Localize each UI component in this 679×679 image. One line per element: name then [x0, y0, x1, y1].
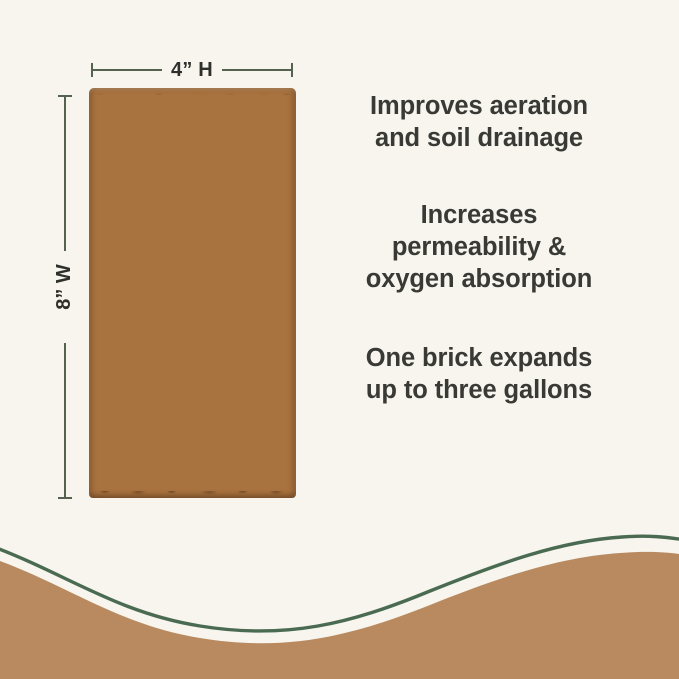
feature-item-permeability: Increasespermeability &oxygen absorption: [336, 199, 622, 295]
feature-list: Improves aerationand soil drainage Incre…: [336, 90, 622, 406]
dimension-label-vertical: 8” W: [53, 227, 75, 347]
dimension-cap-bottom: [58, 497, 72, 499]
brick-bottom-edge: [88, 491, 297, 502]
dimension-guide-horizontal: 4” H: [91, 61, 293, 79]
dimension-line-right: [222, 69, 292, 71]
coco-coir-brick-image: [89, 88, 296, 498]
dimension-cap-right: [291, 63, 293, 77]
soil-wave-decoration: [0, 519, 679, 679]
feature-item-aeration: Improves aerationand soil drainage: [336, 90, 622, 154]
dimension-line-bottom: [64, 343, 66, 498]
dimension-guide-vertical: 8” W: [56, 95, 74, 499]
product-feature-graphic: 4” H 8” W Improves aerationand soil drai…: [0, 0, 679, 679]
product-image-area: 4” H 8” W: [0, 0, 330, 530]
feature-item-expansion: One brick expandsup to three gallons: [336, 342, 622, 406]
soil-fill-shape: [0, 552, 679, 679]
brick-top-edge: [88, 85, 297, 95]
